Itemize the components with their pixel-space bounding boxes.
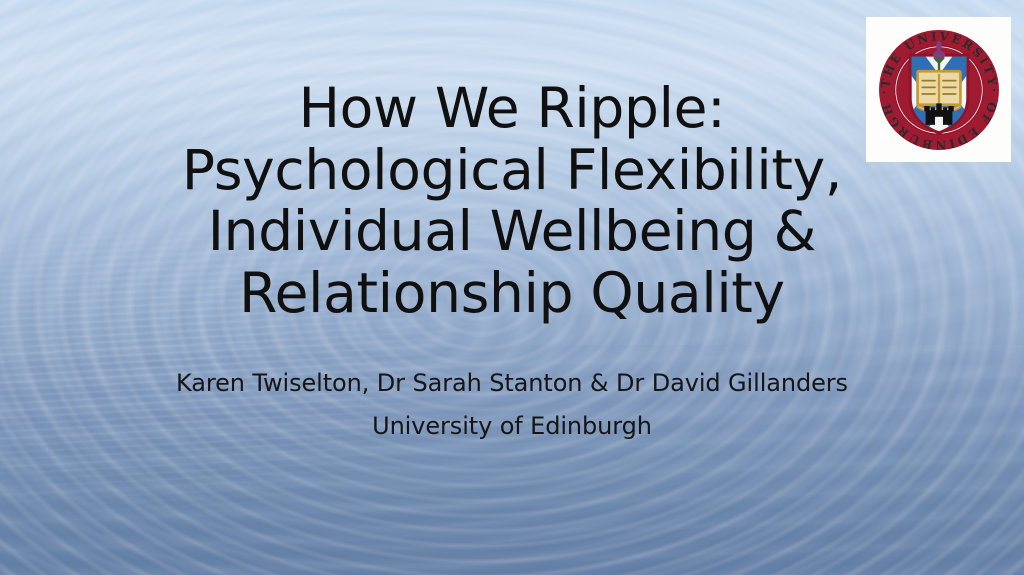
crest-shield <box>910 40 968 132</box>
castle-icon <box>924 103 953 126</box>
university-logo-box: THE UNIVERSITY · OF EDINBURGH · <box>866 17 1011 162</box>
subtitle-authors: Karen Twiselton, Dr Sarah Stanton & Dr D… <box>60 362 964 405</box>
title-slide: How We Ripple: Psychological Flexibility… <box>0 0 1024 575</box>
subtitle-container: Karen Twiselton, Dr Sarah Stanton & Dr D… <box>60 362 964 447</box>
slide-title: How We Ripple: Psychological Flexibility… <box>60 78 964 324</box>
university-of-edinburgh-crest-icon: THE UNIVERSITY · OF EDINBURGH · <box>872 23 1006 157</box>
title-container: How We Ripple: Psychological Flexibility… <box>60 78 964 324</box>
subtitle-affiliation: University of Edinburgh <box>60 405 964 448</box>
